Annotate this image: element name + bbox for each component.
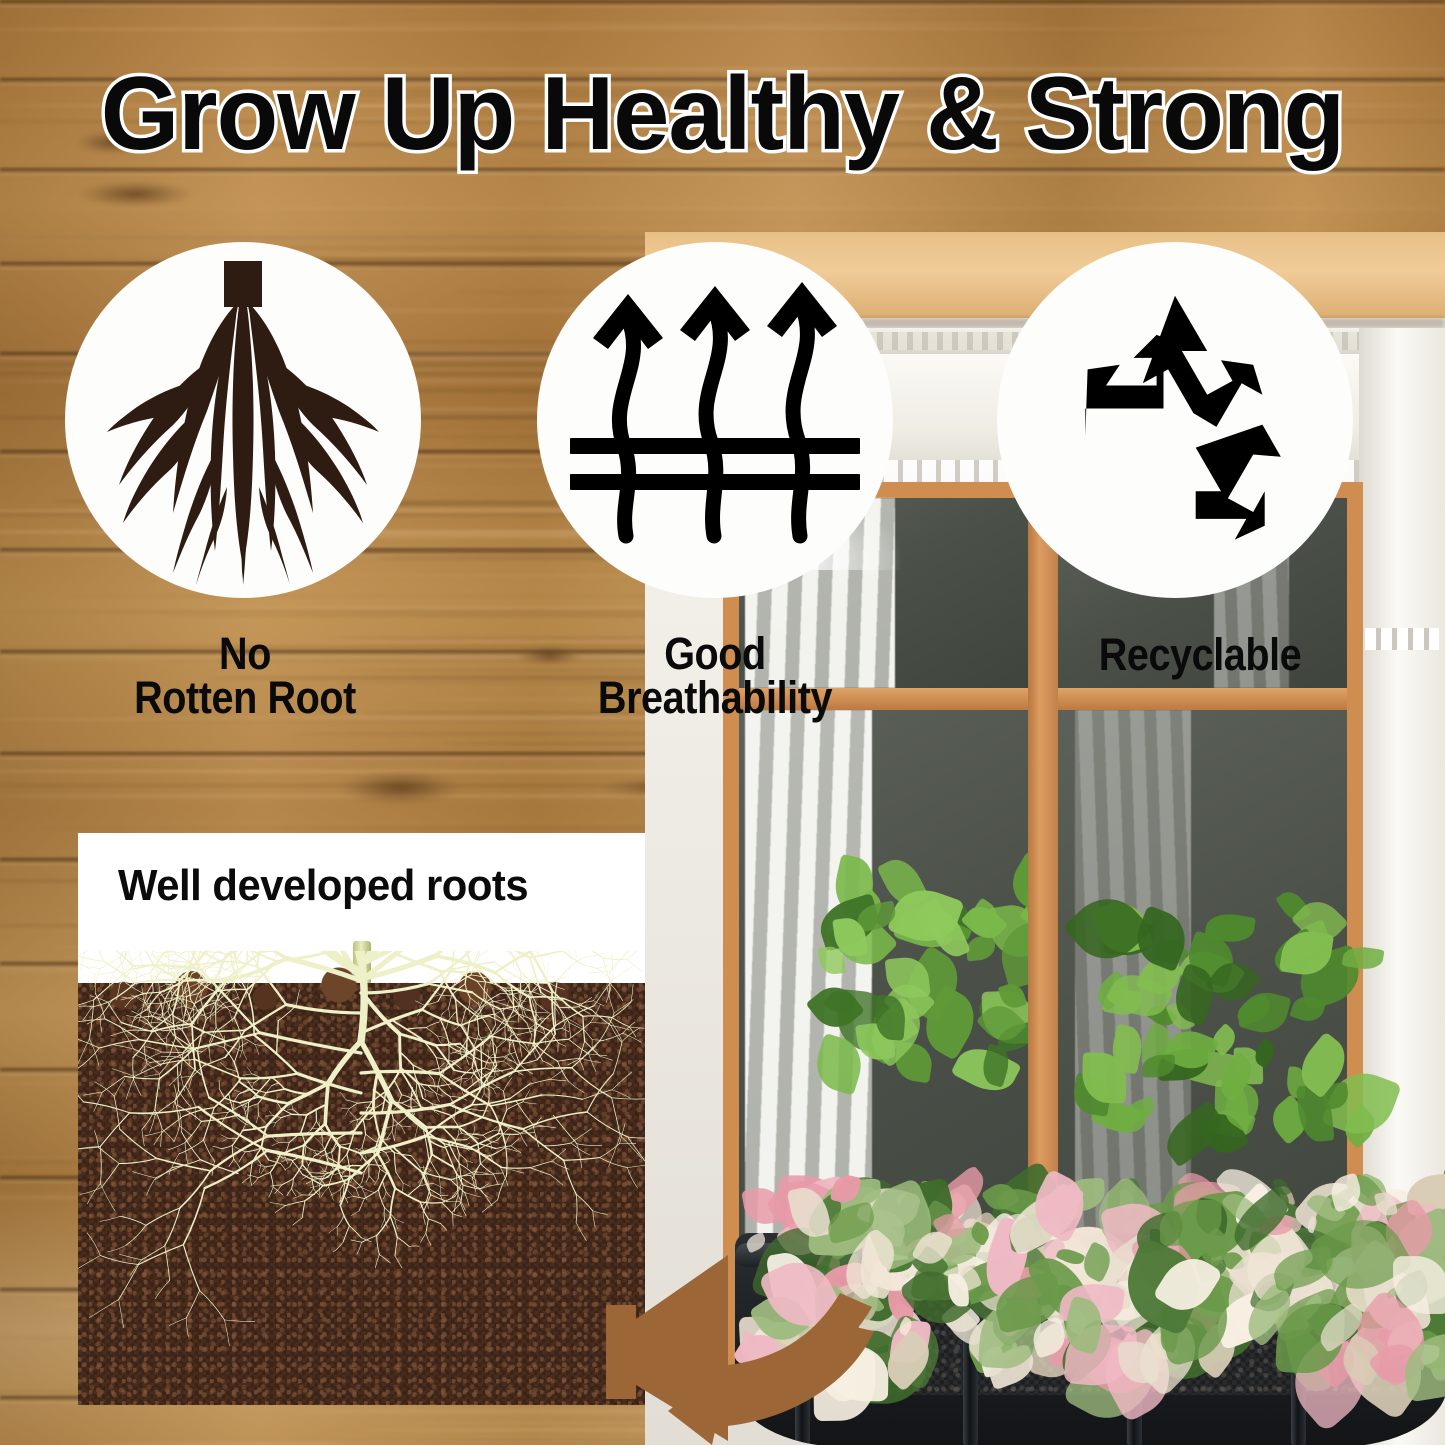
root-branch — [125, 1076, 160, 1079]
root-branch — [490, 1057, 504, 1058]
root-branch — [185, 1143, 188, 1164]
root-branch — [620, 1136, 642, 1159]
root-branch — [577, 1144, 602, 1146]
root-branch — [144, 1017, 163, 1018]
root-branch — [458, 1117, 482, 1127]
root-branch — [612, 1002, 631, 1018]
root-branch — [225, 1030, 245, 1057]
root-branch — [471, 975, 486, 978]
root-branch — [498, 1176, 507, 1200]
root-branch — [390, 1188, 395, 1216]
root-branch — [411, 1156, 420, 1168]
root-branch — [612, 1098, 645, 1099]
root-branch — [245, 1005, 286, 1031]
root-branch — [147, 964, 168, 994]
root-branch — [593, 1211, 595, 1228]
root-branch — [78, 1048, 99, 1068]
root-branch — [479, 951, 493, 956]
root-branch — [536, 1003, 537, 1020]
root-branch — [147, 992, 160, 1009]
root-branch — [291, 1103, 293, 1109]
feature-badge-good-breathability — [537, 242, 893, 598]
root-branch — [102, 1164, 119, 1188]
root-branch — [431, 1195, 448, 1202]
root-branch — [242, 1050, 247, 1060]
root-branch — [147, 1178, 156, 1195]
root-branch — [511, 1028, 530, 1029]
root-branch — [304, 1146, 306, 1157]
root-branch — [169, 1318, 186, 1326]
root-branch — [210, 1012, 211, 1022]
feature-label-good-breathability: Good Breathability — [499, 632, 930, 719]
root-branch — [504, 988, 516, 999]
root-branch — [114, 1078, 125, 1096]
root-branch — [518, 1031, 535, 1035]
root-branch — [422, 969, 452, 1010]
root-branch — [480, 1164, 493, 1174]
root-branch — [340, 1190, 341, 1205]
root-branch — [320, 1166, 324, 1171]
root-branch — [179, 1140, 204, 1154]
root-branch — [533, 1124, 539, 1147]
root-branch — [346, 1196, 353, 1198]
feature-badge-no-rotten-root — [65, 242, 421, 598]
root-branch — [533, 1124, 556, 1128]
root-branch — [155, 1280, 169, 1298]
root-branch — [185, 988, 187, 1005]
root-branch — [504, 1061, 513, 1068]
root-branch — [242, 1177, 250, 1183]
root-branch — [358, 1102, 372, 1104]
root-branch — [146, 1047, 162, 1052]
root-branch — [496, 1146, 511, 1149]
root-branch — [224, 1048, 234, 1063]
root-branch — [407, 1186, 419, 1196]
root-branch — [275, 1206, 285, 1213]
root-branch — [269, 1160, 281, 1164]
root-branch — [386, 1192, 391, 1198]
root-branch — [269, 1111, 273, 1115]
root-branch — [448, 1201, 461, 1202]
root-branch — [131, 1260, 142, 1275]
root-branch — [589, 1054, 596, 1072]
root-branch — [357, 1242, 362, 1254]
root-branch — [133, 954, 141, 962]
root-branch — [530, 1079, 550, 1084]
root-branch — [474, 1034, 479, 1047]
root-branch — [181, 1053, 183, 1074]
root-branch — [523, 1129, 564, 1160]
root-branch — [245, 1148, 260, 1152]
root-branch — [498, 1134, 518, 1135]
root-branch — [426, 1219, 429, 1234]
root-branch — [363, 1118, 366, 1134]
root-branch — [374, 1179, 378, 1185]
root-branch — [593, 1211, 608, 1215]
root-branch — [522, 1009, 524, 1018]
root-branch — [209, 1098, 268, 1137]
root-branch — [286, 1201, 305, 1206]
root-branch — [520, 972, 521, 999]
root-branch — [350, 1103, 358, 1108]
plant-roots-icon — [93, 255, 393, 585]
root-branch — [282, 1114, 292, 1117]
root-branch — [200, 1160, 238, 1174]
root-branch — [119, 1265, 139, 1300]
wood-knot — [341, 771, 460, 805]
root-branch — [611, 985, 623, 1001]
root-branch — [612, 1018, 629, 1027]
root-branch — [312, 1176, 314, 1188]
root-branch — [353, 1196, 364, 1198]
root-branch — [486, 973, 496, 978]
root-branch — [269, 1187, 273, 1197]
root-branch — [89, 1039, 98, 1066]
root-branch — [222, 1138, 227, 1141]
root-branch — [536, 1012, 549, 1013]
root-branch — [94, 974, 95, 994]
root-branch — [100, 1147, 101, 1184]
root-branch — [441, 1008, 449, 1015]
root-branch — [255, 1045, 259, 1055]
root-branch — [315, 1137, 323, 1145]
root-branch — [234, 1159, 241, 1169]
root-branch — [579, 997, 592, 1006]
root-branch — [516, 1101, 533, 1124]
root-branch — [201, 1115, 239, 1122]
root-branch — [594, 1001, 604, 1006]
root-branch — [467, 1161, 468, 1168]
root-branch — [564, 1158, 600, 1161]
root-branch — [613, 965, 634, 979]
root-branch — [163, 1000, 165, 1012]
root-branch — [94, 1092, 103, 1111]
root-branch — [361, 984, 428, 993]
root-branch — [276, 1118, 282, 1123]
root-branch — [166, 1038, 167, 1049]
root-branch — [114, 1045, 134, 1049]
root-branch — [218, 999, 229, 1010]
root-branch — [386, 1152, 390, 1161]
root-branch — [102, 1076, 125, 1092]
root-branch — [126, 1076, 135, 1099]
root-branch — [597, 965, 609, 969]
root-branch — [240, 976, 263, 977]
root-branch — [317, 1171, 324, 1173]
root-branch — [426, 1233, 431, 1245]
root-branch — [234, 1094, 239, 1101]
root-branch — [282, 1179, 294, 1185]
root-branch — [467, 1161, 473, 1163]
root-branch — [428, 1219, 440, 1224]
wood-grain-line — [120, 227, 1388, 229]
root-branch — [599, 1033, 622, 1041]
root-branch — [221, 1135, 228, 1138]
root-branch — [245, 1110, 248, 1119]
root-branch — [281, 1160, 286, 1162]
root-branch — [356, 1188, 359, 1196]
root-branch — [437, 1036, 442, 1045]
root-branch — [420, 1202, 441, 1203]
root-branch — [351, 1211, 359, 1216]
root-branch — [441, 1020, 449, 1042]
root-branch — [84, 1092, 103, 1095]
root-branch — [442, 1203, 453, 1214]
root-branch — [125, 999, 132, 1007]
root-branch — [510, 1084, 530, 1098]
root-branch — [211, 1112, 228, 1114]
root-branch — [449, 1008, 450, 1017]
root-branch — [157, 1012, 162, 1021]
root-branch — [239, 1042, 248, 1047]
wood-grain-line — [159, 1, 1279, 4]
root-branch — [361, 1071, 439, 1073]
root-branch — [564, 1160, 577, 1194]
root-branch — [530, 951, 563, 958]
root-branch — [233, 1102, 234, 1109]
root-branch — [514, 1068, 572, 1072]
root-branch — [204, 1030, 245, 1032]
root-branch — [107, 1245, 126, 1252]
product-feature-graphic: Grow Up Healthy & Strong — [0, 0, 1445, 1445]
root-branch — [448, 1045, 460, 1052]
root-branch — [252, 1083, 254, 1088]
root-branch — [364, 1190, 378, 1199]
root-branch — [502, 1167, 531, 1168]
root-branch — [438, 1084, 452, 1087]
root-branch — [136, 973, 151, 978]
root-branch — [550, 1069, 565, 1079]
root-branch — [484, 982, 486, 998]
root-branch — [146, 1052, 161, 1060]
root-branch — [397, 1237, 409, 1246]
root-branch — [511, 1139, 519, 1146]
root-branch — [331, 1190, 341, 1196]
root-branch — [477, 981, 500, 983]
root-branch — [415, 1001, 424, 1005]
root-branch — [383, 1180, 387, 1191]
root-branch — [343, 1226, 349, 1242]
root-branch — [403, 1183, 410, 1187]
root-branch — [433, 1104, 440, 1105]
root-branch — [469, 998, 470, 1008]
root-branch — [325, 1136, 332, 1149]
root-branch — [462, 1008, 466, 1023]
root-branch — [552, 1149, 566, 1161]
root-branch — [192, 1026, 226, 1041]
root-branch — [628, 960, 643, 973]
root-branch — [188, 951, 189, 963]
root-branch — [587, 1074, 613, 1112]
root-branch — [530, 1161, 552, 1168]
root-branch — [603, 958, 628, 959]
root-branch — [494, 1174, 499, 1185]
root-branch — [172, 1041, 181, 1057]
root-branch — [94, 1130, 98, 1147]
root-branch — [450, 1096, 461, 1097]
root-branch — [155, 1079, 159, 1110]
root-branch — [571, 1129, 591, 1143]
root-branch — [442, 1127, 455, 1140]
root-branch — [527, 1023, 532, 1035]
root-branch — [569, 1023, 571, 1038]
root-branch — [78, 1256, 100, 1273]
root-branch — [563, 951, 583, 965]
root-branch — [270, 1203, 286, 1206]
root-branch — [465, 1193, 481, 1198]
root-branch — [530, 1168, 550, 1175]
root-branch — [250, 1177, 252, 1186]
root-branch — [183, 1245, 199, 1291]
root-branch — [394, 1153, 396, 1173]
root-branch — [87, 1184, 100, 1204]
root-branch — [243, 1074, 252, 1076]
root-branch — [78, 1036, 99, 1048]
root-branch — [314, 1151, 322, 1152]
root-branch — [346, 1100, 358, 1103]
root-branch — [424, 1154, 432, 1174]
root-branch — [141, 951, 146, 954]
root-branch — [504, 1078, 513, 1092]
root-branch — [434, 1111, 439, 1114]
page-title: Grow Up Healthy & Strong — [22, 62, 1424, 166]
root-branch — [268, 1133, 361, 1136]
root-branch — [134, 1054, 150, 1062]
root-branch — [260, 1033, 361, 1053]
root-branch — [99, 1040, 139, 1048]
root-branch — [250, 1163, 252, 1177]
root-branch — [120, 1026, 134, 1049]
root-branch — [180, 1171, 211, 1208]
root-branch — [223, 1004, 240, 1008]
root-branch — [100, 1113, 129, 1147]
feature-badge-recyclable — [997, 242, 1353, 598]
root-branch — [453, 1214, 462, 1217]
root-branch — [346, 1109, 350, 1116]
root-branch — [392, 1131, 394, 1140]
root-branch — [530, 1028, 544, 1033]
root-branch — [600, 1056, 613, 1060]
root-branch — [108, 1002, 122, 1022]
root-branch — [436, 956, 496, 973]
root-branch — [607, 988, 614, 1013]
root-branch — [395, 1125, 397, 1141]
root-branch — [341, 1093, 346, 1100]
airflow-arrows-icon — [570, 270, 860, 570]
root-branch — [552, 1161, 569, 1169]
root-branch — [266, 1103, 288, 1126]
root-branch — [523, 1112, 587, 1129]
root-branch — [504, 1057, 512, 1062]
root-branch — [421, 1233, 426, 1242]
root-branch — [80, 1187, 102, 1194]
root-branch — [454, 1070, 474, 1073]
root-branch — [436, 1093, 443, 1096]
root-branch — [272, 1143, 279, 1146]
root-branch — [395, 1256, 402, 1268]
root-branch — [159, 984, 166, 987]
root-branch — [79, 1006, 92, 1007]
root-branch — [239, 1122, 246, 1136]
root-branch — [628, 1137, 645, 1138]
root-branch — [142, 1130, 144, 1146]
root-branch — [323, 1179, 349, 1186]
callout-arrow — [600, 1245, 890, 1445]
root-branch — [237, 951, 252, 953]
root-branch — [415, 1125, 418, 1138]
root-branch — [610, 951, 630, 971]
root-branch — [234, 986, 240, 1000]
plant-leaf — [1124, 1096, 1158, 1123]
root-branch — [219, 1089, 224, 1098]
root-branch — [402, 1100, 410, 1103]
root-branch — [101, 1184, 116, 1212]
root-branch — [528, 1035, 532, 1046]
root-branch — [117, 984, 121, 1000]
root-branch — [576, 1194, 593, 1211]
root-branch — [348, 1191, 353, 1197]
root-branch — [594, 979, 613, 1006]
root-branch — [392, 1119, 393, 1132]
root-branch — [127, 951, 131, 960]
root-branch — [290, 1160, 293, 1167]
root-branch — [426, 1022, 439, 1028]
root-branch — [543, 1143, 571, 1146]
root-branch — [92, 951, 134, 966]
root-branch — [213, 1146, 222, 1149]
root-branch — [294, 1195, 302, 1199]
root-branch — [292, 1179, 294, 1189]
feature-label-no-rotten-root: No Rotten Root — [29, 632, 460, 719]
root-branch — [274, 1122, 277, 1127]
root-branch — [613, 1041, 622, 1073]
root-branch — [485, 1000, 505, 1004]
root-branch — [490, 1083, 503, 1092]
plant-leaf — [1062, 883, 1152, 973]
root-branch — [293, 1218, 303, 1226]
root-branch — [507, 1009, 517, 1012]
root-branch — [135, 980, 179, 983]
root-branch — [576, 1223, 586, 1241]
root-branch — [366, 1176, 369, 1183]
root-branch — [287, 1189, 292, 1196]
root-branch — [329, 1227, 337, 1233]
root-branch — [482, 1017, 493, 1036]
root-branch — [407, 1028, 427, 1030]
root-branch — [99, 972, 113, 974]
root-branch — [491, 1095, 542, 1106]
root-branch — [257, 967, 286, 1005]
root-branch — [156, 1166, 184, 1178]
root-branch — [301, 1115, 307, 1132]
root-branch — [640, 951, 645, 973]
root-branch — [629, 1027, 644, 1028]
root-branch — [296, 990, 299, 1005]
root-branch — [249, 995, 254, 1035]
root-branch — [221, 1146, 232, 1149]
root-branch — [377, 1216, 391, 1235]
root-branch — [536, 1003, 550, 1013]
root-branch — [429, 1157, 440, 1176]
root-branch — [271, 1185, 282, 1186]
root-branch — [249, 1104, 259, 1108]
inset-title: Well developed roots — [118, 861, 528, 911]
root-branch — [225, 1320, 230, 1346]
root-branch — [474, 1133, 480, 1134]
root-branch — [310, 1186, 319, 1188]
root-branch — [333, 1242, 343, 1252]
root-branch — [271, 1083, 279, 1086]
